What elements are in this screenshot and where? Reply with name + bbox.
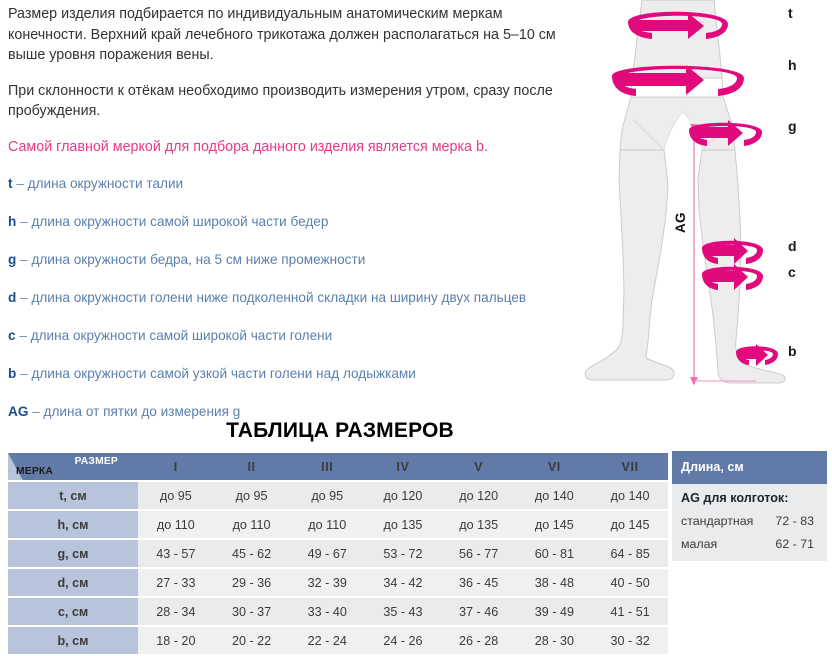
row-label-d: d, см bbox=[8, 569, 138, 596]
length-row-value: 62 - 71 bbox=[775, 537, 818, 551]
definition-dash: – bbox=[20, 214, 28, 229]
definition-description: длина окружности бедра, на 5 см ниже про… bbox=[31, 252, 365, 267]
cell: 27 - 33 bbox=[138, 569, 214, 596]
cell: 43 - 57 bbox=[138, 540, 214, 567]
highlight-note: Самой главной меркой для подбора данного… bbox=[8, 137, 564, 157]
cell: до 110 bbox=[138, 511, 214, 538]
corner-row-axis-label: МЕРКА bbox=[16, 466, 53, 477]
column-header-6: VI bbox=[517, 453, 593, 480]
length-row-standard: стандартная 72 - 83 bbox=[681, 514, 818, 528]
length-row-name: стандартная bbox=[681, 514, 753, 528]
row-label-t: t, см bbox=[8, 482, 138, 509]
definition-dash: – bbox=[20, 290, 28, 305]
definition-item-t: t – длина окружности талии bbox=[8, 175, 564, 192]
definition-description: длина окружности талии bbox=[28, 176, 183, 191]
table-header-row: МЕРКА РАЗМЕР I II III IV V VI VII bbox=[8, 453, 668, 480]
cell: до 95 bbox=[138, 482, 214, 509]
cell: 45 - 62 bbox=[214, 540, 290, 567]
definition-key: t bbox=[8, 176, 13, 191]
length-row-small: малая 62 - 71 bbox=[681, 537, 818, 551]
table-row: h, см до 110 до 110 до 110 до 135 до 135… bbox=[8, 511, 668, 538]
column-header-3: III bbox=[289, 453, 365, 480]
cell: до 110 bbox=[214, 511, 290, 538]
figure-label-c: c bbox=[788, 264, 796, 280]
cell: 22 - 24 bbox=[289, 627, 365, 654]
table-corner-cell: МЕРКА РАЗМЕР bbox=[8, 453, 138, 480]
row-label-c: c, см bbox=[8, 598, 138, 625]
cell: 32 - 39 bbox=[289, 569, 365, 596]
definition-dash: – bbox=[32, 404, 40, 419]
row-label-h: h, см bbox=[8, 511, 138, 538]
definition-key: d bbox=[8, 290, 16, 305]
column-header-7: VII bbox=[592, 453, 668, 480]
intro-paragraph-2: При склонности к отёкам необходимо произ… bbox=[8, 81, 564, 122]
column-header-2: II bbox=[214, 453, 290, 480]
cell: 28 - 30 bbox=[517, 627, 593, 654]
row-label-b: b, см bbox=[8, 627, 138, 654]
table-row: t, см до 95 до 95 до 95 до 120 до 120 до… bbox=[8, 482, 668, 509]
cell: 26 - 28 bbox=[441, 627, 517, 654]
definition-dash: – bbox=[16, 176, 24, 191]
cell: 34 - 42 bbox=[365, 569, 441, 596]
cell: до 140 bbox=[517, 482, 593, 509]
cell: 24 - 26 bbox=[365, 627, 441, 654]
cell: 28 - 34 bbox=[138, 598, 214, 625]
figure-label-ag: AG bbox=[673, 212, 688, 233]
body-silhouette bbox=[583, 0, 785, 383]
definition-dash: – bbox=[20, 252, 28, 267]
cell: 30 - 32 bbox=[592, 627, 668, 654]
definition-dash: – bbox=[20, 366, 28, 381]
corner-col-axis-label: РАЗМЕР bbox=[75, 456, 118, 467]
cell: до 120 bbox=[365, 482, 441, 509]
figure-label-d: d bbox=[788, 238, 797, 254]
table-row: g, см 43 - 57 45 - 62 49 - 67 53 - 72 56… bbox=[8, 540, 668, 567]
size-table-container: МЕРКА РАЗМЕР I II III IV V VI VII t, см … bbox=[8, 451, 668, 656]
cell: до 145 bbox=[592, 511, 668, 538]
length-panel-header: Длина, см bbox=[672, 451, 827, 484]
length-row-value: 72 - 83 bbox=[775, 514, 818, 528]
cell: 39 - 49 bbox=[517, 598, 593, 625]
row-label-g: g, см bbox=[8, 540, 138, 567]
measurement-definitions-list: t – длина окружности талии h – длина окр… bbox=[8, 175, 564, 420]
definition-description: длина окружности голени ниже подколенной… bbox=[31, 290, 526, 305]
definition-key: b bbox=[8, 366, 16, 381]
cell: 56 - 77 bbox=[441, 540, 517, 567]
cell: 18 - 20 bbox=[138, 627, 214, 654]
definition-item-h: h – длина окружности самой широкой части… bbox=[8, 213, 564, 230]
table-row: b, см 18 - 20 20 - 22 22 - 24 24 - 26 26… bbox=[8, 627, 668, 654]
definition-key: c bbox=[8, 328, 16, 343]
size-table: МЕРКА РАЗМЕР I II III IV V VI VII t, см … bbox=[8, 451, 668, 656]
definition-key: AG bbox=[8, 404, 28, 419]
cell: 33 - 40 bbox=[289, 598, 365, 625]
table-row: d, см 27 - 33 29 - 36 32 - 39 34 - 42 36… bbox=[8, 569, 668, 596]
cell: 29 - 36 bbox=[214, 569, 290, 596]
figure-label-b: b bbox=[788, 343, 797, 359]
length-row-name: малая bbox=[681, 537, 717, 551]
definition-description: длина окружности самой широкой части бед… bbox=[31, 214, 328, 229]
length-panel: Длина, см AG для колготок: стандартная 7… bbox=[672, 451, 827, 561]
cell: 41 - 51 bbox=[592, 598, 668, 625]
definition-item-ag: AG – длина от пятки до измерения g bbox=[8, 403, 564, 420]
cell: до 95 bbox=[289, 482, 365, 509]
intro-paragraph-1: Размер изделия подбирается по индивидуал… bbox=[8, 4, 564, 66]
cell: 35 - 43 bbox=[365, 598, 441, 625]
table-title: ТАБЛИЦА РАЗМЕРОВ bbox=[0, 419, 680, 443]
length-panel-title: AG для колготок: bbox=[681, 491, 818, 505]
cell: 30 - 37 bbox=[214, 598, 290, 625]
definition-item-b: b – длина окружности самой узкой части г… bbox=[8, 365, 564, 382]
cell: до 120 bbox=[441, 482, 517, 509]
definition-dash: – bbox=[19, 328, 27, 343]
instructions-column: Размер изделия подбирается по индивидуал… bbox=[8, 4, 564, 441]
cell: до 135 bbox=[441, 511, 517, 538]
measurement-diagram: t h g d c b AG bbox=[556, 0, 832, 404]
cell: 37 - 46 bbox=[441, 598, 517, 625]
cell: 64 - 85 bbox=[592, 540, 668, 567]
definition-item-c: c – длина окружности самой широкой части… bbox=[8, 327, 564, 344]
cell: до 135 bbox=[365, 511, 441, 538]
definition-item-d: d – длина окружности голени ниже подколе… bbox=[8, 289, 564, 306]
cell: до 140 bbox=[592, 482, 668, 509]
figure-label-t: t bbox=[788, 5, 793, 21]
cell: до 110 bbox=[289, 511, 365, 538]
definition-key: h bbox=[8, 214, 16, 229]
cell: 40 - 50 bbox=[592, 569, 668, 596]
cell: 49 - 67 bbox=[289, 540, 365, 567]
length-panel-body: AG для колготок: стандартная 72 - 83 мал… bbox=[672, 484, 827, 561]
definition-description: длина окружности самой узкой части голен… bbox=[31, 366, 415, 381]
definition-description: длина окружности самой широкой части гол… bbox=[31, 328, 333, 343]
size-guide-page: Размер изделия подбирается по индивидуал… bbox=[0, 0, 832, 652]
definition-key: g bbox=[8, 252, 16, 267]
column-header-1: I bbox=[138, 453, 214, 480]
figure-label-g: g bbox=[788, 118, 797, 134]
cell: до 95 bbox=[214, 482, 290, 509]
table-row: c, см 28 - 34 30 - 37 33 - 40 35 - 43 37… bbox=[8, 598, 668, 625]
cell: 53 - 72 bbox=[365, 540, 441, 567]
figure-label-h: h bbox=[788, 57, 797, 73]
cell: до 145 bbox=[517, 511, 593, 538]
cell: 60 - 81 bbox=[517, 540, 593, 567]
definition-description: длина от пятки до измерения g bbox=[44, 404, 241, 419]
column-header-4: IV bbox=[365, 453, 441, 480]
cell: 20 - 22 bbox=[214, 627, 290, 654]
cell: 36 - 45 bbox=[441, 569, 517, 596]
column-header-5: V bbox=[441, 453, 517, 480]
definition-item-g: g – длина окружности бедра, на 5 см ниже… bbox=[8, 251, 564, 268]
cell: 38 - 48 bbox=[517, 569, 593, 596]
